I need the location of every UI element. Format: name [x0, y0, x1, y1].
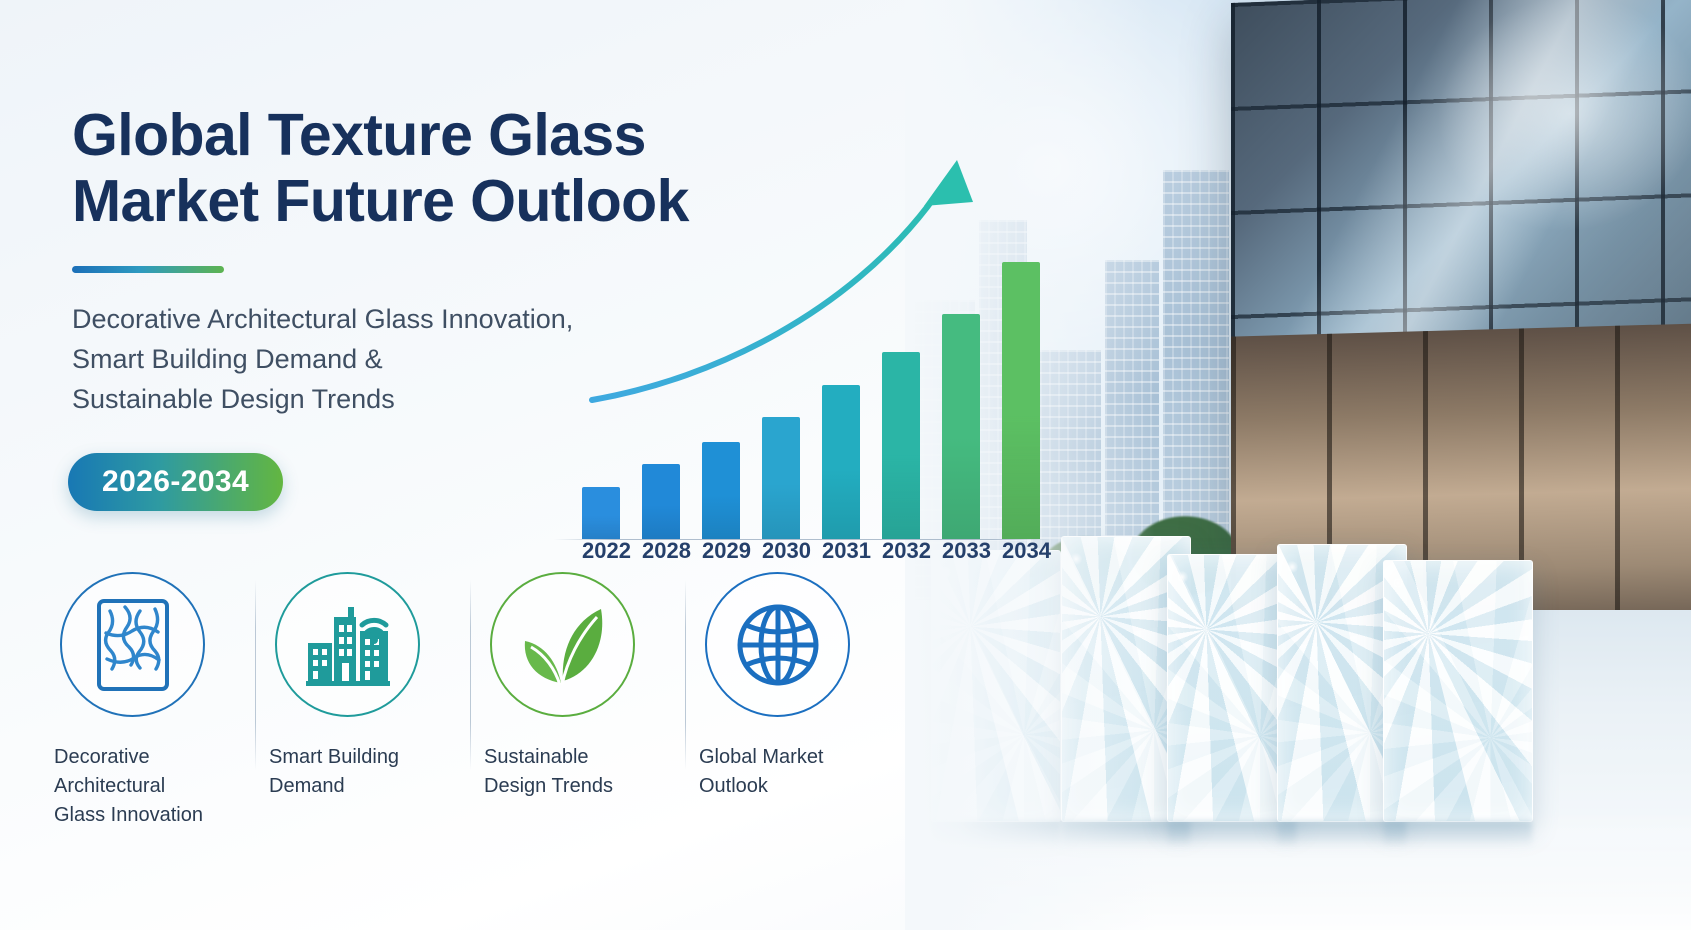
- feature-item-smart-building[interactable]: Smart Building Demand: [255, 572, 470, 830]
- feature-label-line-1: Sustainable: [484, 743, 671, 772]
- smart-building-wifi-icon: [302, 599, 394, 691]
- feature-icon-circle: [490, 572, 635, 717]
- textured-glass-sample-panel: [1383, 560, 1533, 822]
- accent-divider-bar: [72, 266, 224, 273]
- feature-item-sustainable-design[interactable]: Sustainable Design Trends: [470, 572, 685, 830]
- chart-year-label: 2033: [942, 538, 980, 564]
- leaf-sustainability-icon: [517, 601, 609, 689]
- feature-item-decorative-glass[interactable]: Decorative Architectural Glass Innovatio…: [40, 572, 255, 830]
- feature-label-line-2: Demand: [269, 772, 456, 801]
- feature-label-line-1: Smart Building: [269, 743, 456, 772]
- chart-bar: [582, 487, 620, 540]
- feature-label-line-2: Design Trends: [484, 772, 671, 801]
- chart-bar: [642, 464, 680, 539]
- feature-highlights: Decorative Architectural Glass Innovatio…: [40, 572, 920, 830]
- feature-label-line-2: Glass Innovation: [54, 801, 241, 830]
- feature-label-line-1: Decorative Architectural: [54, 743, 241, 801]
- chart-bar: [882, 352, 920, 540]
- feature-label: Sustainable Design Trends: [484, 743, 671, 801]
- feature-label: Decorative Architectural Glass Innovatio…: [54, 743, 241, 830]
- feature-label-line-1: Global Market: [699, 743, 886, 772]
- chart-bar: [762, 417, 800, 539]
- chart-bar: [942, 314, 980, 539]
- feature-icon-circle: [705, 572, 850, 717]
- feature-item-global-outlook[interactable]: Global Market Outlook: [685, 572, 900, 830]
- chart-year-label: 2029: [702, 538, 740, 564]
- chart-year-label: 2022: [582, 538, 620, 564]
- chart-year-label: 2031: [822, 538, 860, 564]
- chart-bars: [548, 239, 1068, 539]
- chart-year-label: 2034: [1002, 538, 1040, 564]
- feature-label: Global Market Outlook: [699, 743, 886, 801]
- period-badge: 2026-2034: [68, 453, 283, 511]
- chart-bar: [822, 385, 860, 539]
- chart-x-axis-labels: 20222028202920302031203220332034: [548, 538, 1068, 564]
- textured-glass-panel-icon: [94, 597, 172, 693]
- globe-icon: [732, 599, 824, 691]
- chart-year-label: 2030: [762, 538, 800, 564]
- chart-year-label: 2032: [882, 538, 920, 564]
- chart-bar: [702, 442, 740, 540]
- feature-icon-circle: [60, 572, 205, 717]
- infographic-canvas: Global Texture Glass Market Future Outlo…: [0, 0, 1691, 930]
- feature-label: Smart Building Demand: [269, 743, 456, 801]
- chart-year-label: 2028: [642, 538, 680, 564]
- growth-bar-chart: 20222028202920302031203220332034: [548, 120, 1068, 540]
- feature-icon-circle: [275, 572, 420, 717]
- feature-label-line-2: Outlook: [699, 772, 886, 801]
- chart-bar: [1002, 262, 1040, 540]
